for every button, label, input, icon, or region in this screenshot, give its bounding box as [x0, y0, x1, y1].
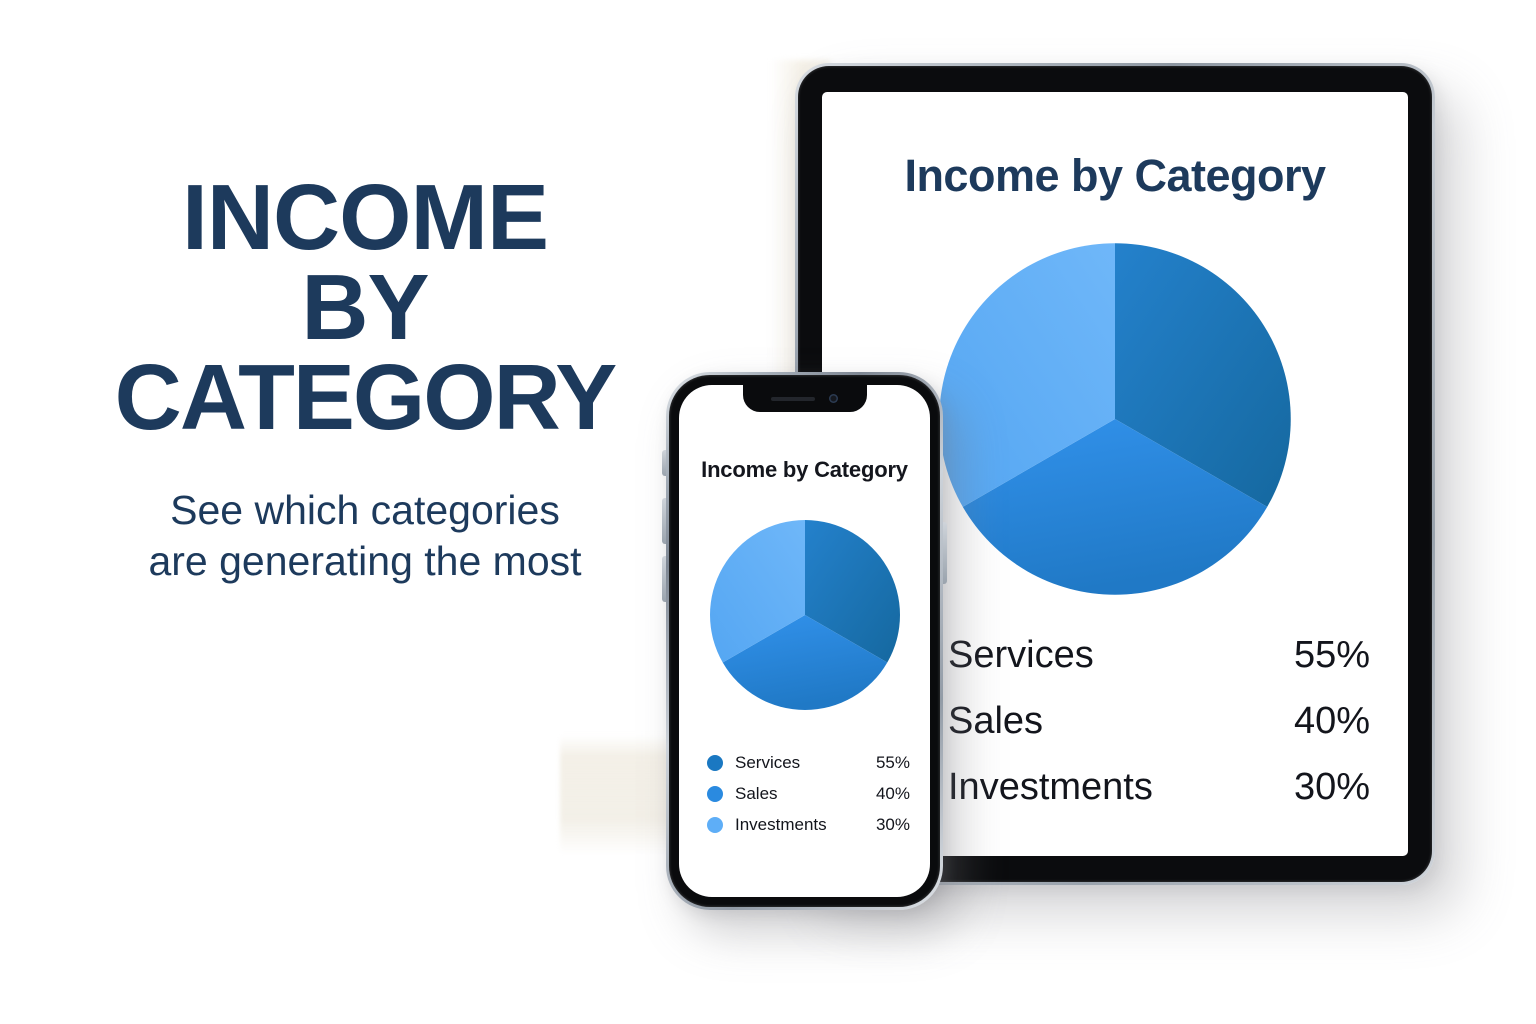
phone-device: Income by Category — [666, 372, 943, 910]
subhead-line-2: are generating the most — [70, 536, 660, 587]
headline-line-3: CATEGORY — [70, 352, 660, 442]
legend-value-sales: 40% — [1240, 700, 1370, 743]
speaker-icon — [771, 397, 815, 401]
headline-line-2: BY — [70, 262, 660, 352]
phone-screen[interactable]: Income by Category — [679, 385, 930, 897]
legend-row-services[interactable]: Services 55% — [707, 747, 910, 778]
legend-row-investments[interactable]: Investments 30% — [882, 754, 1370, 820]
phone-pie-chart[interactable] — [705, 515, 905, 715]
phone-silent-switch[interactable] — [662, 450, 666, 476]
phone-bezel: Income by Category — [669, 375, 940, 907]
page-title: INCOME BY CATEGORY — [70, 172, 660, 443]
legend-value-investments: 30% — [1240, 766, 1370, 809]
legend-label-investments: Investments — [735, 815, 858, 835]
legend-label-investments: Investments — [948, 766, 1240, 809]
phone-volume-down-button[interactable] — [662, 556, 666, 602]
subhead-line-1: See which categories — [70, 485, 660, 536]
legend-row-investments[interactable]: Investments 30% — [707, 809, 910, 840]
legend-dot-icon-services — [707, 755, 723, 771]
tablet-chart-title: Income by Category — [822, 150, 1408, 202]
legend-value-sales: 40% — [858, 784, 910, 804]
phone-volume-up-button[interactable] — [662, 498, 666, 544]
phone-chart-title: Income by Category — [679, 457, 930, 483]
legend-label-sales: Sales — [948, 700, 1240, 743]
headline-line-1: INCOME — [182, 165, 548, 269]
phone-power-button[interactable] — [943, 522, 947, 584]
tablet-pie-chart[interactable] — [930, 234, 1300, 604]
legend-dot-icon-investments — [707, 817, 723, 833]
legend-label-sales: Sales — [735, 784, 858, 804]
legend-dot-icon-sales — [707, 786, 723, 802]
legend-label-services: Services — [735, 753, 858, 773]
legend-row-sales[interactable]: Sales 40% — [707, 778, 910, 809]
tablet-legend: Services 55% Sales 40% Investments 30% — [882, 622, 1370, 820]
phone-notch — [743, 385, 867, 412]
legend-row-sales[interactable]: Sales 40% — [882, 688, 1370, 754]
legend-label-services: Services — [948, 634, 1240, 677]
legend-value-investments: 30% — [858, 815, 910, 835]
page-subtitle: See which categories are generating the … — [70, 485, 660, 588]
front-camera-icon — [829, 394, 838, 403]
legend-row-services[interactable]: Services 55% — [882, 622, 1370, 688]
phone-legend: Services 55% Sales 40% Investments 30% — [707, 747, 910, 840]
legend-value-services: 55% — [858, 753, 910, 773]
hero-text-block: INCOME BY CATEGORY See which categories … — [70, 172, 660, 587]
legend-value-services: 55% — [1240, 634, 1370, 677]
